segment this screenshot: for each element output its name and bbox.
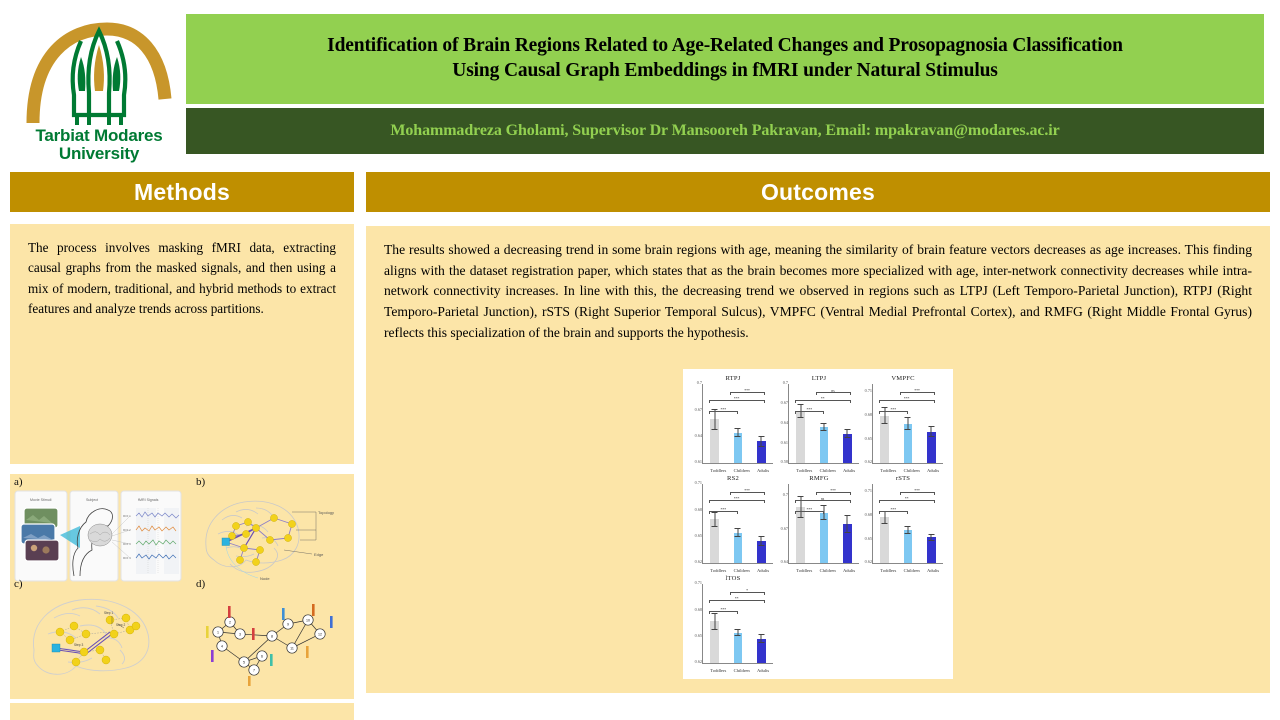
chart-panel-rs2: RS20.620.650.680.71ToddlersChildrenAdult… bbox=[691, 475, 775, 575]
methods-body-text: The process involves masking fMRI data, … bbox=[28, 238, 336, 320]
svg-text:Subject: Subject bbox=[86, 498, 98, 502]
chart-x-tick: Children bbox=[820, 468, 829, 473]
chart-plot-area: 0.620.650.680.71ToddlersChildrenAdults**… bbox=[872, 484, 943, 564]
chart-title: VMPFC bbox=[861, 375, 945, 382]
svg-text:12: 12 bbox=[318, 632, 322, 636]
svg-text:Edge: Edge bbox=[314, 552, 324, 557]
chart-error-bar bbox=[761, 634, 762, 643]
outcomes-text-panel: The results showed a decreasing trend in… bbox=[366, 226, 1270, 693]
chart-bar: Toddlers bbox=[710, 621, 719, 663]
chart-y-tick: 0.65 bbox=[863, 536, 872, 541]
logo-wordmark: Tarbiat Modares University bbox=[35, 127, 162, 163]
svg-text:ROI 4: ROI 4 bbox=[123, 556, 131, 560]
outcomes-figure-area: RTPJ0.610.640.670.7ToddlersChildrenAdult… bbox=[366, 359, 1270, 689]
chart-panel-rtpj: RTPJ0.610.640.670.7ToddlersChildrenAdult… bbox=[691, 375, 775, 475]
svg-text:2: 2 bbox=[229, 620, 231, 624]
author-banner: Mohammadreza Gholami, Supervisor Dr Mans… bbox=[186, 108, 1264, 154]
chart-bar: Children bbox=[734, 433, 743, 464]
chart-significance-label: *** bbox=[901, 389, 934, 393]
chart-significance-bracket: *** bbox=[816, 492, 851, 495]
chart-y-tick: 0.65 bbox=[693, 633, 702, 638]
chart-y-tick: 0.7 bbox=[779, 492, 788, 497]
chart-error-bar bbox=[847, 515, 848, 533]
chart-panel-ltos: lTOS0.620.650.680.71ToddlersChildrenAdul… bbox=[691, 575, 775, 675]
chart-y-tick: 0.62 bbox=[693, 559, 702, 564]
chart-significance-bracket: *** bbox=[709, 400, 765, 403]
svg-text:6: 6 bbox=[261, 654, 263, 658]
svg-text:4: 4 bbox=[221, 644, 223, 648]
methods-figure-a-graphic: Movie Stimuli Subject fMRI Signals bbox=[14, 490, 182, 582]
chart-significance-bracket: * bbox=[730, 592, 765, 595]
chart-y-tick: 0.65 bbox=[863, 436, 872, 441]
chart-significance-label: *** bbox=[731, 489, 764, 493]
chart-y-tick: 0.64 bbox=[779, 420, 788, 425]
chart-significance-label: *** bbox=[710, 408, 737, 412]
chart-y-tick: 0.62 bbox=[863, 559, 872, 564]
chart-panel-vmpfc: VMPFC0.620.650.680.71ToddlersChildrenAdu… bbox=[861, 375, 945, 475]
chart-bar: Adults bbox=[757, 639, 766, 664]
chart-significance-bracket: *** bbox=[879, 411, 908, 414]
chart-y-tick: 0.62 bbox=[693, 659, 702, 664]
chart-y-tick: 0.62 bbox=[863, 459, 872, 464]
svg-text:fMRI Signals: fMRI Signals bbox=[138, 498, 159, 502]
chart-bar: Adults bbox=[927, 432, 936, 464]
methods-figure-a: a) Movie Stimuli Subject fMRI Signals bbox=[14, 476, 182, 584]
chart-panel-ltpj: LTPJ0.580.610.640.670.7ToddlersChildrenA… bbox=[777, 375, 861, 475]
svg-text:Topology: Topology bbox=[318, 510, 334, 515]
svg-text:Step 2: Step 2 bbox=[116, 623, 125, 627]
chart-y-tick: 0.68 bbox=[863, 512, 872, 517]
bar-chart-grid: RTPJ0.610.640.670.7ToddlersChildrenAdult… bbox=[691, 375, 945, 675]
chart-bar: Toddlers bbox=[710, 419, 719, 463]
chart-bar: Toddlers bbox=[796, 411, 805, 464]
chart-error-bar bbox=[737, 629, 738, 636]
svg-text:9: 9 bbox=[287, 622, 289, 626]
methods-figure-d-label: d) bbox=[196, 578, 348, 590]
chart-y-tick: 0.68 bbox=[693, 507, 702, 512]
chart-y-tick: 0.67 bbox=[693, 407, 702, 412]
methods-figure-d: d) 21 34 bbox=[196, 578, 348, 690]
chart-x-tick: Toddlers bbox=[880, 568, 889, 573]
chart-x-tick: Children bbox=[734, 568, 743, 573]
chart-y-tick: 0.68 bbox=[863, 412, 872, 417]
chart-significance-label: ** bbox=[880, 497, 934, 501]
chart-significance-label: *** bbox=[901, 489, 934, 493]
chart-error-bar bbox=[847, 429, 848, 438]
chart-significance-label: *** bbox=[796, 508, 823, 512]
methods-figure-a-label: a) bbox=[14, 476, 182, 488]
svg-text:8: 8 bbox=[271, 634, 273, 638]
chart-title: RTPJ bbox=[691, 375, 775, 382]
chart-error-bar bbox=[714, 613, 715, 630]
chart-significance-bracket: *** bbox=[879, 511, 908, 514]
chart-y-tick: 0.71 bbox=[863, 388, 872, 393]
chart-bar: Adults bbox=[757, 441, 766, 463]
author-line: Mohammadreza Gholami, Supervisor Dr Mans… bbox=[390, 122, 1059, 140]
chart-y-tick: 0.65 bbox=[693, 533, 702, 538]
chart-error-bar bbox=[931, 534, 932, 541]
chart-x-tick: Adults bbox=[757, 668, 766, 673]
methods-footer-panel bbox=[10, 703, 354, 720]
chart-significance-bracket: *** bbox=[709, 411, 738, 414]
tulip-arch-logo-icon bbox=[19, 15, 179, 127]
chart-x-tick: Toddlers bbox=[796, 468, 805, 473]
chart-bar: Adults bbox=[843, 524, 852, 564]
chart-bar: Toddlers bbox=[796, 507, 805, 563]
chart-title: RMFG bbox=[777, 475, 861, 482]
chart-significance-bracket: *** bbox=[730, 492, 765, 495]
chart-x-tick: Toddlers bbox=[710, 668, 719, 673]
svg-text:Step 3: Step 3 bbox=[74, 643, 83, 647]
title-banner: Identification of Brain Regions Related … bbox=[186, 14, 1264, 104]
chart-x-tick: Adults bbox=[843, 468, 852, 473]
chart-error-bar bbox=[761, 536, 762, 546]
poster-title: Identification of Brain Regions Related … bbox=[313, 34, 1137, 84]
chart-significance-label: ** bbox=[796, 397, 850, 401]
chart-title: lTOS bbox=[691, 575, 775, 582]
chart-error-bar bbox=[931, 426, 932, 437]
poster-title-line-1: Identification of Brain Regions Related … bbox=[327, 35, 1123, 56]
methods-figure-b: b) bbox=[196, 476, 348, 584]
chart-x-tick: Adults bbox=[757, 468, 766, 473]
chart-y-tick: 0.67 bbox=[779, 400, 788, 405]
chart-y-tick: 0.71 bbox=[863, 488, 872, 493]
chart-significance-bracket: ** bbox=[879, 500, 935, 503]
outcomes-column: Outcomes The results showed a decreasing… bbox=[366, 172, 1270, 693]
methods-figure-b-label: b) bbox=[196, 476, 348, 488]
chart-significance-bracket: *** bbox=[730, 392, 765, 395]
outcomes-section-header: Outcomes bbox=[366, 172, 1270, 212]
methods-figure-d-graphic: 21 34 56 78 910 1112 bbox=[196, 592, 348, 688]
poster-title-line-2: Using Causal Graph Embeddings in fMRI un… bbox=[452, 60, 997, 81]
chart-significance-label: *** bbox=[817, 489, 850, 493]
chart-plot-area: 0.620.650.680.71ToddlersChildrenAdults**… bbox=[702, 584, 773, 664]
svg-text:Step 1: Step 1 bbox=[104, 611, 113, 615]
svg-text:5: 5 bbox=[243, 660, 245, 664]
chart-x-tick: Adults bbox=[927, 568, 936, 573]
chart-x-tick: Children bbox=[904, 468, 913, 473]
chart-significance-bracket: *** bbox=[795, 511, 824, 514]
chart-significance-label: *** bbox=[731, 389, 764, 393]
svg-text:ROI 3: ROI 3 bbox=[123, 542, 131, 546]
results-figure-card: RTPJ0.610.640.670.7ToddlersChildrenAdult… bbox=[683, 369, 953, 679]
chart-y-tick: 0.61 bbox=[779, 440, 788, 445]
methods-section-header: Methods bbox=[10, 172, 354, 212]
chart-significance-label: ns bbox=[817, 389, 850, 393]
methods-figure-panel: a) Movie Stimuli Subject fMRI Signals bbox=[10, 474, 354, 699]
logo-mark-icon bbox=[19, 15, 179, 127]
chart-panel-rsts: rSTS0.620.650.680.71ToddlersChildrenAdul… bbox=[861, 475, 945, 575]
chart-bar: Toddlers bbox=[880, 517, 889, 563]
chart-title: LTPJ bbox=[777, 375, 861, 382]
chart-bar: Children bbox=[820, 427, 829, 463]
chart-bar: Children bbox=[734, 633, 743, 664]
chart-y-tick: 0.7 bbox=[779, 380, 788, 385]
chart-significance-bracket: *** bbox=[709, 500, 765, 503]
chart-significance-bracket: *** bbox=[709, 611, 738, 614]
poster-header: Tarbiat Modares University Identificatio… bbox=[0, 0, 1280, 166]
chart-significance-label: *** bbox=[710, 397, 764, 401]
svg-text:1: 1 bbox=[217, 630, 219, 634]
chart-y-tick: 0.64 bbox=[693, 433, 702, 438]
chart-error-bar bbox=[907, 417, 908, 430]
chart-plot-area: 0.620.650.680.71ToddlersChildrenAdults**… bbox=[702, 484, 773, 564]
methods-figure-b-graphic: Topology Edge Node bbox=[196, 490, 348, 582]
chart-significance-label: *** bbox=[880, 408, 907, 412]
methods-figure-c-graphic: Step 1 Step 2 Step 3 bbox=[14, 592, 182, 688]
chart-significance-bracket: *** bbox=[879, 400, 935, 403]
chart-significance-label: * bbox=[731, 589, 764, 593]
chart-significance-bracket: ns bbox=[816, 392, 851, 395]
methods-figure-c: c) bbox=[14, 578, 182, 690]
university-logo: Tarbiat Modares University bbox=[14, 8, 184, 163]
chart-y-tick: 0.71 bbox=[693, 580, 702, 585]
chart-x-tick: Children bbox=[734, 468, 743, 473]
outcomes-body-text: The results showed a decreasing trend in… bbox=[384, 240, 1252, 343]
chart-significance-label: *** bbox=[880, 397, 934, 401]
chart-significance-label: *** bbox=[710, 608, 737, 612]
chart-y-tick: 0.58 bbox=[779, 459, 788, 464]
chart-title: RS2 bbox=[691, 475, 775, 482]
chart-error-bar bbox=[737, 428, 738, 438]
chart-x-tick: Adults bbox=[843, 568, 852, 573]
chart-bar: Adults bbox=[757, 541, 766, 563]
chart-plot-area: 0.620.650.680.71ToddlersChildrenAdults**… bbox=[872, 384, 943, 464]
svg-text:3: 3 bbox=[239, 632, 241, 636]
chart-bar: Children bbox=[734, 533, 743, 564]
svg-text:11: 11 bbox=[290, 646, 294, 650]
chart-y-tick: 0.61 bbox=[693, 459, 702, 464]
chart-x-tick: Toddlers bbox=[796, 568, 805, 573]
chart-significance-label: ns bbox=[796, 497, 850, 501]
chart-bar: Toddlers bbox=[880, 416, 889, 463]
chart-significance-label: *** bbox=[710, 508, 737, 512]
chart-bar: Children bbox=[820, 513, 829, 564]
methods-heading: Methods bbox=[134, 179, 230, 206]
chart-x-tick: Children bbox=[734, 668, 743, 673]
chart-significance-bracket: ** bbox=[709, 600, 765, 603]
logo-line-1: Tarbiat Modares bbox=[35, 127, 162, 145]
svg-text:ROI 2: ROI 2 bbox=[123, 528, 131, 532]
chart-x-tick: Adults bbox=[757, 568, 766, 573]
svg-text:7: 7 bbox=[253, 668, 255, 672]
outcomes-heading: Outcomes bbox=[761, 179, 875, 206]
chart-x-tick: Adults bbox=[927, 468, 936, 473]
svg-text:10: 10 bbox=[306, 618, 310, 622]
methods-text-panel: The process involves masking fMRI data, … bbox=[10, 224, 354, 464]
chart-y-tick: 0.7 bbox=[693, 380, 702, 385]
svg-text:ROI 1: ROI 1 bbox=[123, 514, 131, 518]
methods-column: Methods The process involves masking fMR… bbox=[10, 172, 354, 720]
chart-panel-rmfg: RMFG0.640.670.7ToddlersChildrenAdults***… bbox=[777, 475, 861, 575]
chart-plot-area: 0.580.610.640.670.7ToddlersChildrenAdult… bbox=[788, 384, 859, 464]
chart-significance-label: *** bbox=[880, 508, 907, 512]
chart-x-tick: Toddlers bbox=[710, 568, 719, 573]
chart-error-bar bbox=[761, 436, 762, 447]
chart-y-tick: 0.71 bbox=[693, 480, 702, 485]
poster-canvas: Tarbiat Modares University Identificatio… bbox=[0, 0, 1280, 720]
chart-error-bar bbox=[737, 528, 738, 536]
chart-bar: Adults bbox=[927, 537, 936, 563]
chart-significance-bracket: *** bbox=[795, 411, 824, 414]
chart-significance-label: ** bbox=[710, 597, 764, 601]
chart-significance-bracket: *** bbox=[709, 511, 738, 514]
chart-plot-area: 0.610.640.670.7ToddlersChildrenAdults***… bbox=[702, 384, 773, 464]
chart-bar: Adults bbox=[843, 434, 852, 464]
chart-significance-label: *** bbox=[710, 497, 764, 501]
chart-x-tick: Children bbox=[820, 568, 829, 573]
chart-error-bar bbox=[907, 526, 908, 534]
logo-line-2: University bbox=[35, 145, 162, 163]
svg-text:Movie Stimuli: Movie Stimuli bbox=[30, 498, 52, 502]
chart-plot-area: 0.640.670.7ToddlersChildrenAdults***ns**… bbox=[788, 484, 859, 564]
chart-y-tick: 0.68 bbox=[693, 607, 702, 612]
chart-significance-bracket: ** bbox=[795, 400, 851, 403]
chart-error-bar bbox=[823, 423, 824, 430]
chart-bar: Children bbox=[904, 424, 913, 464]
chart-x-tick: Toddlers bbox=[710, 468, 719, 473]
chart-x-tick: Children bbox=[904, 568, 913, 573]
chart-title: rSTS bbox=[861, 475, 945, 482]
chart-bar: Children bbox=[904, 530, 913, 563]
chart-y-tick: 0.64 bbox=[779, 559, 788, 564]
chart-significance-bracket: ns bbox=[795, 500, 851, 503]
chart-significance-bracket: *** bbox=[900, 392, 935, 395]
chart-significance-bracket: *** bbox=[900, 492, 935, 495]
methods-figure-c-label: c) bbox=[14, 578, 182, 590]
chart-bar: Toddlers bbox=[710, 519, 719, 563]
chart-y-tick: 0.67 bbox=[779, 526, 788, 531]
chart-significance-label: *** bbox=[796, 408, 823, 412]
chart-x-tick: Toddlers bbox=[880, 468, 889, 473]
